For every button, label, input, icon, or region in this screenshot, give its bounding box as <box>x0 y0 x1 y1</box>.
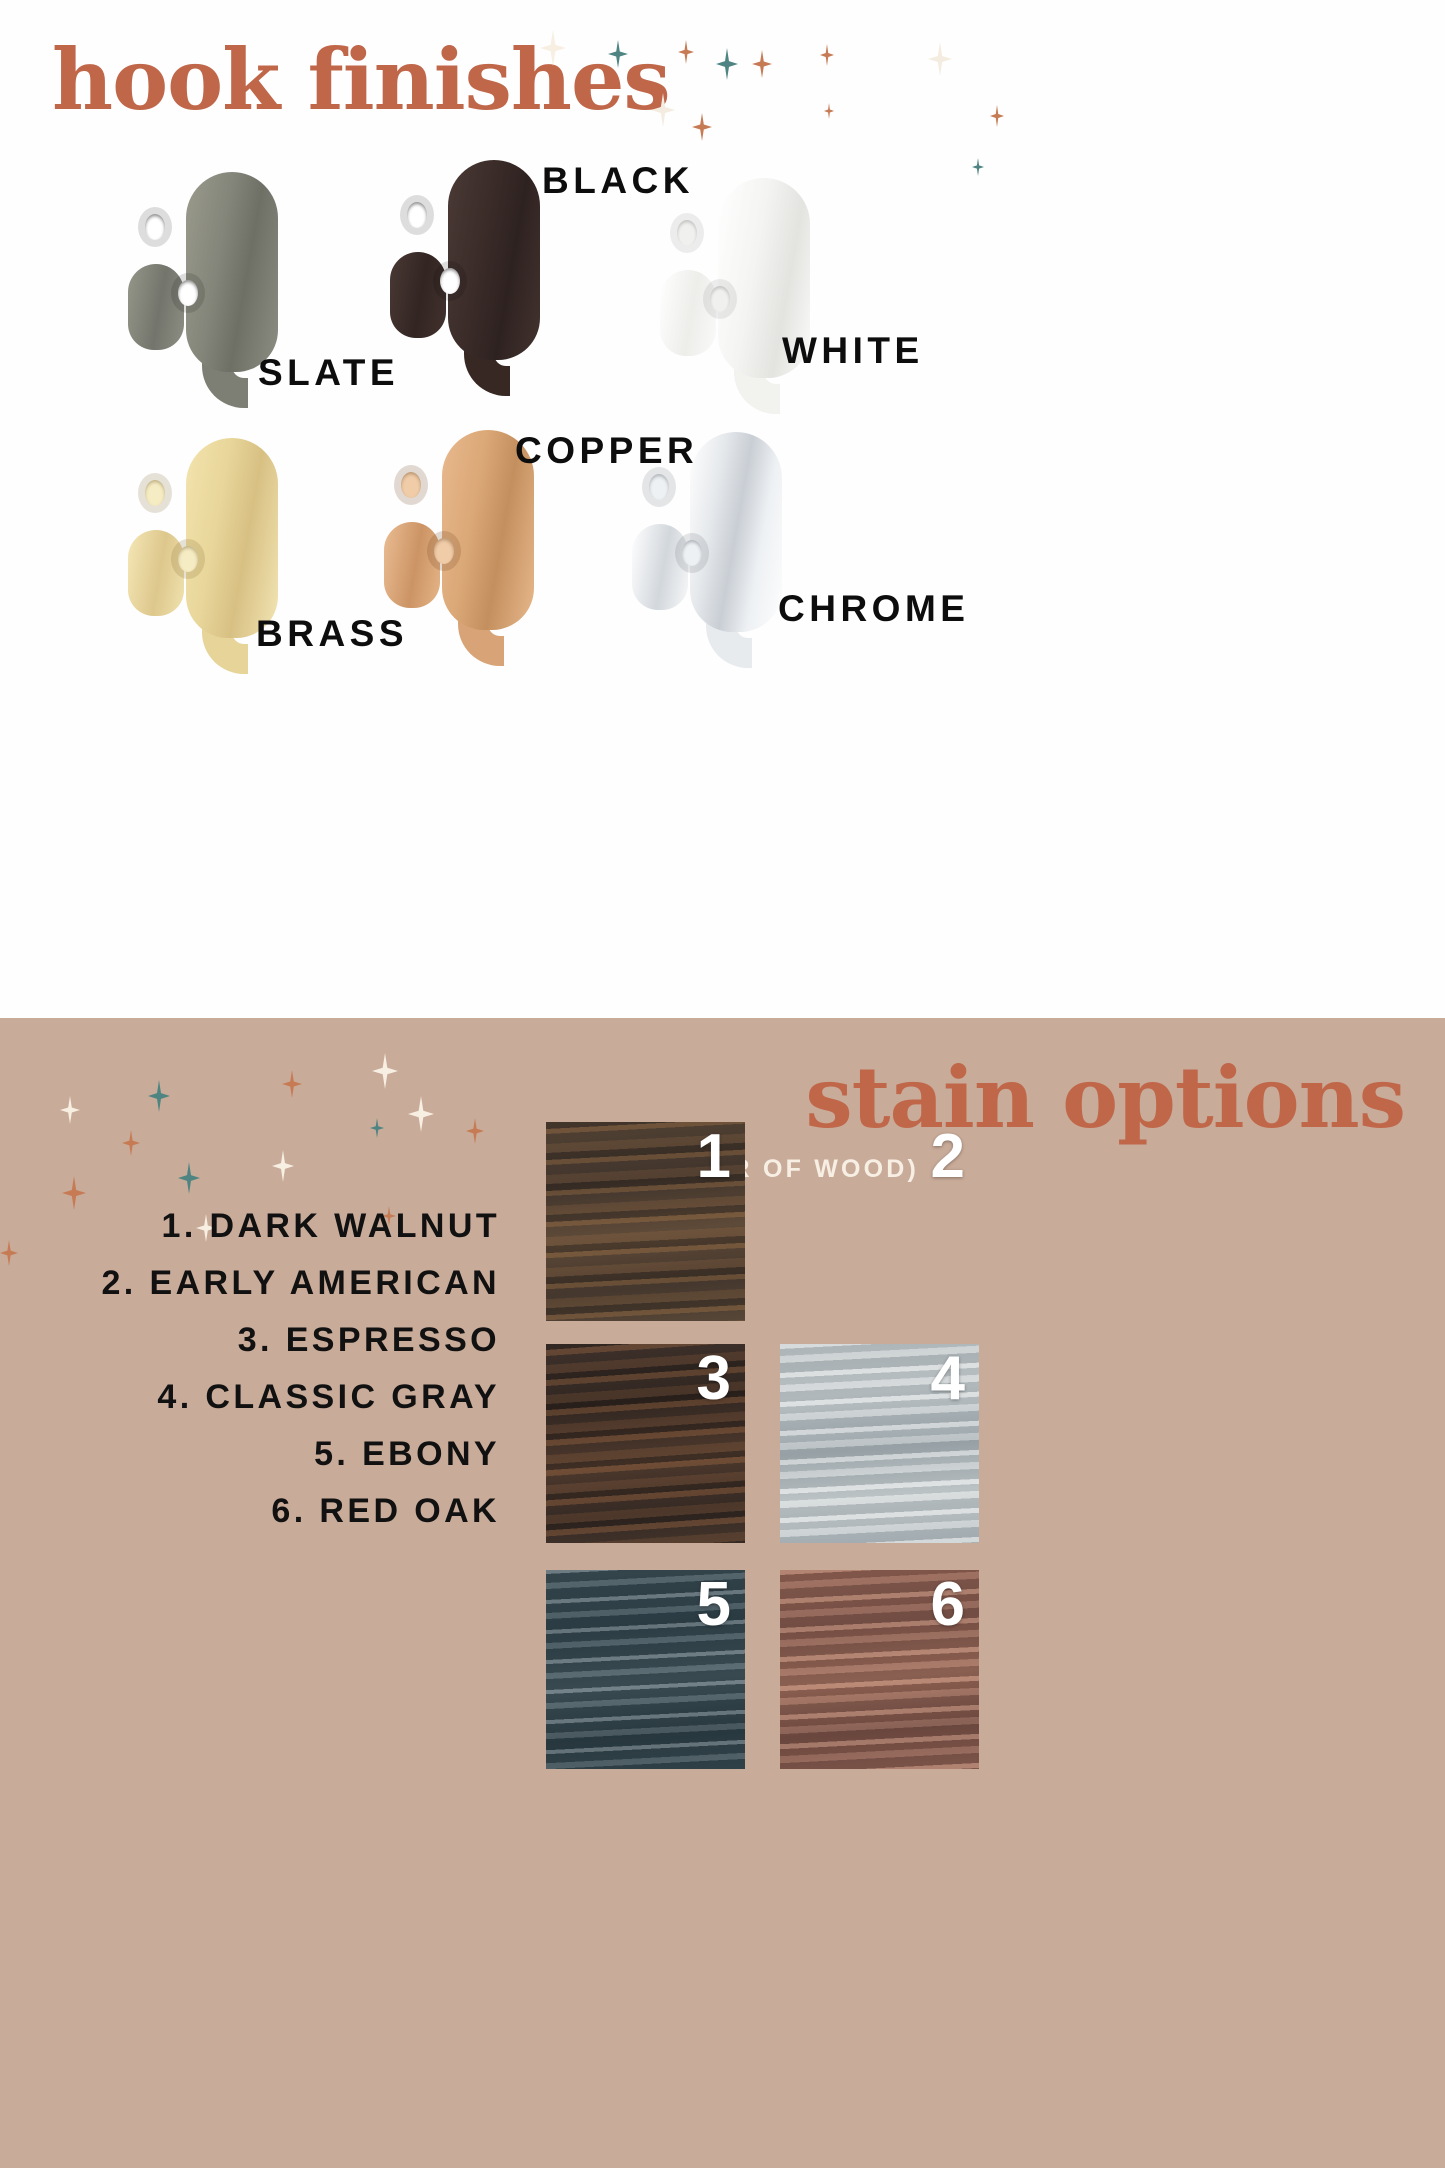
hook-knob <box>632 524 688 610</box>
stain-options-section: stain options (COLOR OF WOOD) 1. DARK WA… <box>0 1018 1445 2168</box>
hook-label-chrome: CHROME <box>778 588 969 630</box>
stain-list-item[interactable]: 2. EARLY AMERICAN <box>60 1255 500 1312</box>
stain-list-item[interactable]: 3. ESPRESSO <box>60 1312 500 1369</box>
stain-list-item[interactable]: 6. RED OAK <box>60 1483 500 1540</box>
stain-swatch-number: 6 <box>931 1572 965 1637</box>
screw-hole-icon <box>440 268 460 294</box>
hook-label-slate: SLATE <box>258 352 399 394</box>
stain-swatch-number: 5 <box>697 1572 731 1637</box>
sparkle-icon <box>408 1096 434 1132</box>
hook-knob <box>128 530 184 616</box>
sparkle-icon <box>178 1162 200 1194</box>
sparkle-icon <box>928 42 952 76</box>
screw-hole-icon <box>178 546 198 572</box>
sparkle-icon <box>716 48 738 80</box>
hook-white[interactable] <box>660 178 890 428</box>
sparkle-icon <box>282 1070 302 1098</box>
hook-knob <box>390 252 446 338</box>
sparkle-icon <box>752 50 772 78</box>
sparkle-icon <box>972 158 984 176</box>
sparkle-icon <box>60 1096 80 1124</box>
sparkle-icon <box>824 103 834 119</box>
stain-swatch-number: 1 <box>697 1124 731 1189</box>
stain-list-item[interactable]: 4. CLASSIC GRAY <box>60 1369 500 1426</box>
screw-hole-icon <box>178 280 198 306</box>
hook-backplate <box>690 432 782 632</box>
stain-swatch-3[interactable]: 3 <box>546 1344 745 1543</box>
stain-options-list: 1. DARK WALNUT 2. EARLY AMERICAN 3. ESPR… <box>60 1198 500 1540</box>
stain-list-item[interactable]: 5. EBONY <box>60 1426 500 1483</box>
hook-backplate <box>186 438 278 638</box>
stain-swatch-2[interactable]: 2 <box>780 1122 979 1321</box>
hook-label-white: WHITE <box>782 330 924 372</box>
hook-backplate <box>448 160 540 360</box>
hook-finishes-title: hook finishes <box>52 38 670 122</box>
stain-swatch-number: 3 <box>697 1346 731 1411</box>
screw-hole-icon <box>677 220 697 246</box>
sparkle-icon <box>820 44 834 66</box>
screw-hole-icon <box>649 474 669 500</box>
hook-finishes-section: hook finishes SLATE BLACK WHITE <box>0 0 1445 1018</box>
sparkle-icon <box>372 1053 398 1089</box>
stain-swatch-number: 4 <box>931 1346 965 1411</box>
sparkle-icon <box>122 1130 140 1156</box>
sparkle-icon <box>692 113 712 141</box>
screw-hole-icon <box>710 286 730 312</box>
sparkle-icon <box>370 1118 384 1138</box>
screw-hole-icon <box>401 472 421 498</box>
sparkle-icon <box>272 1150 294 1182</box>
sparkle-icon <box>466 1118 484 1144</box>
stain-swatch-1[interactable]: 1 <box>546 1122 745 1321</box>
hook-backplate <box>186 172 278 372</box>
hook-knob <box>660 270 716 356</box>
sparkle-icon <box>990 105 1004 127</box>
screw-hole-icon <box>682 540 702 566</box>
stain-swatch-5[interactable]: 5 <box>546 1570 745 1769</box>
stain-swatch-number: 2 <box>931 1124 965 1189</box>
stain-list-item[interactable]: 1. DARK WALNUT <box>60 1198 500 1255</box>
screw-hole-icon <box>407 202 427 228</box>
screw-hole-icon <box>434 538 454 564</box>
screw-hole-icon <box>145 480 165 506</box>
sparkle-icon <box>0 1240 18 1266</box>
stain-swatch-4[interactable]: 4 <box>780 1344 979 1543</box>
stain-swatch-6[interactable]: 6 <box>780 1570 979 1769</box>
hook-knob <box>128 264 184 350</box>
hook-chrome[interactable] <box>632 432 862 682</box>
sparkle-icon <box>148 1080 170 1112</box>
sparkle-icon <box>678 40 694 64</box>
hook-knob <box>384 522 440 608</box>
screw-hole-icon <box>145 214 165 240</box>
